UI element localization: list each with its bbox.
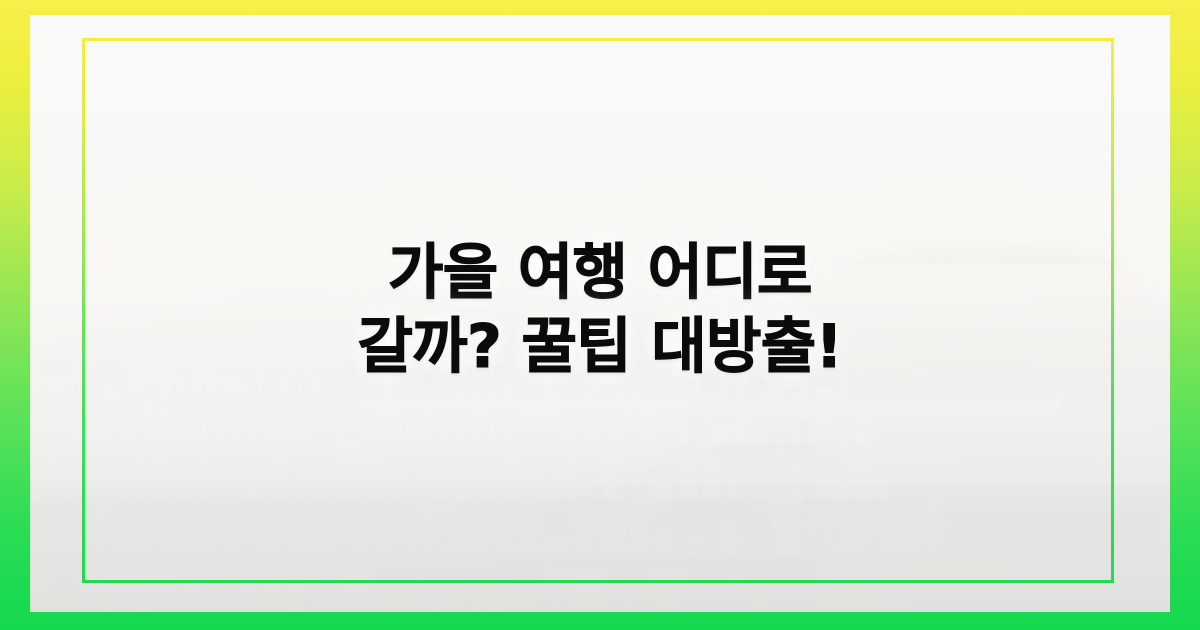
page-title: 가을 여행 어디로 갈까? 꿀팁 대방출! [0, 236, 1200, 384]
thumbnail-canvas: 가을 여행 어디로 갈까? 꿀팁 대방출! [0, 0, 1200, 630]
